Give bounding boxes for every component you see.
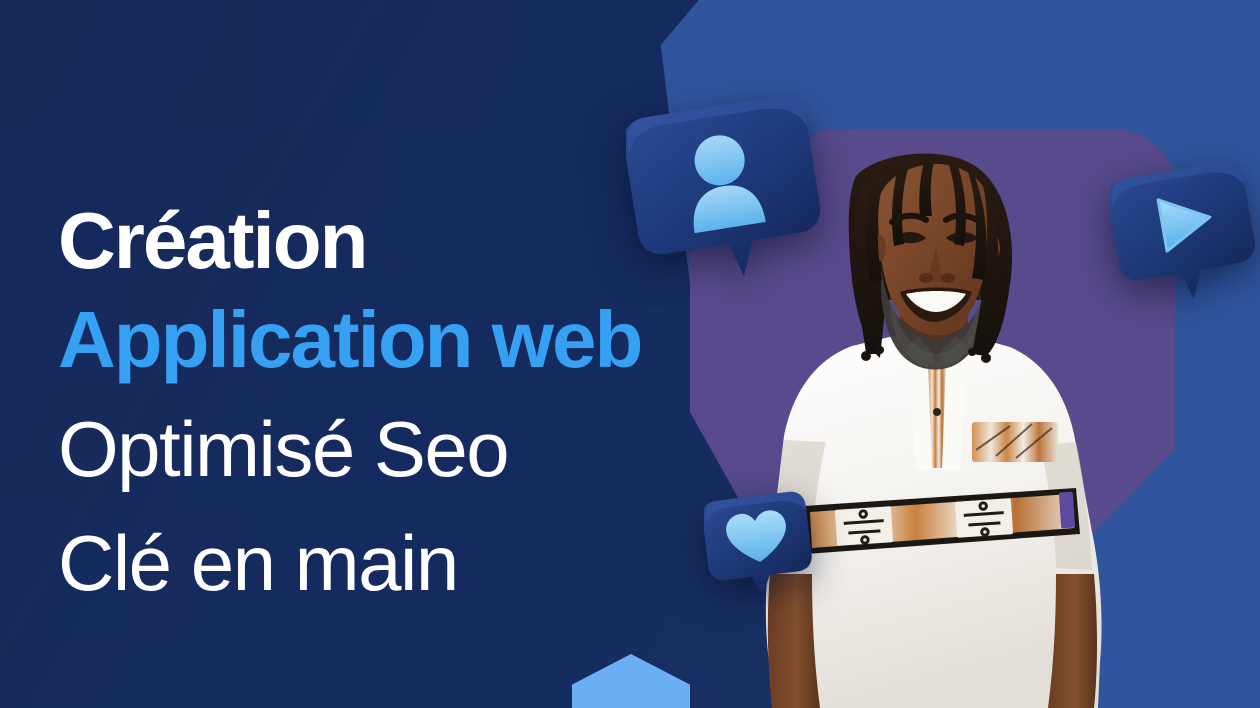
headline-line-4: Clé en main	[58, 507, 778, 621]
heart-bubble-icon	[704, 488, 812, 600]
user-bubble-icon	[626, 88, 822, 288]
pentagon-shape	[572, 654, 690, 708]
headline-line-3: Optimisé Seo	[58, 393, 778, 507]
headline-line-2: Application web	[58, 286, 778, 393]
play-bubble-icon	[1110, 158, 1256, 306]
banner-stage: Création Application web Optimisé Seo Cl…	[0, 0, 1260, 708]
